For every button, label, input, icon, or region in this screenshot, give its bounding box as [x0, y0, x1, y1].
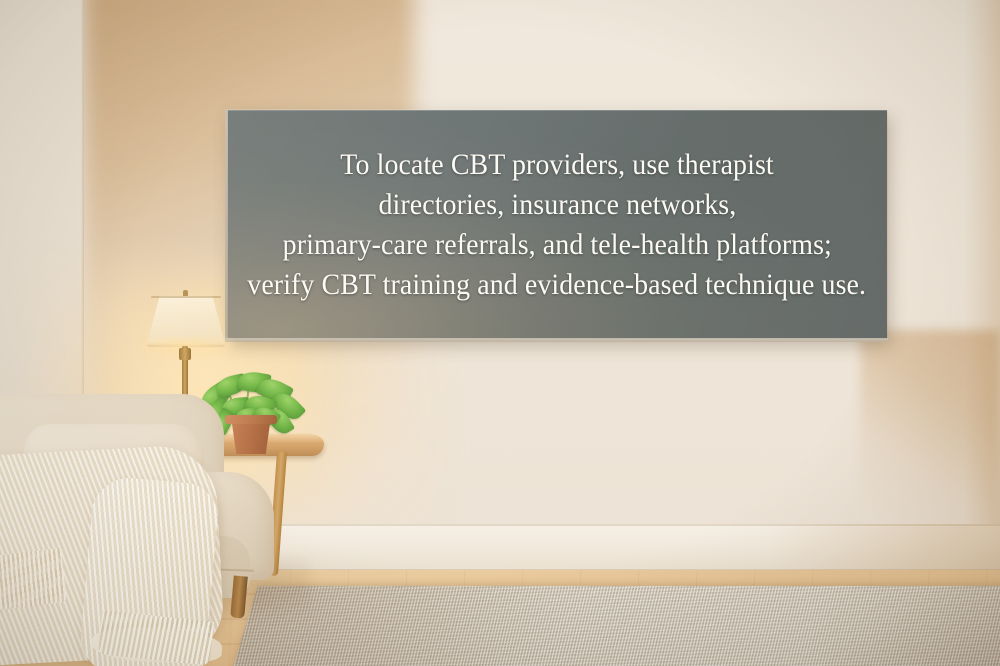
panel-text-line-3: primary-care referrals, and tele-health …: [282, 225, 831, 265]
panel-text-block: To locate CBT providers, use therapist d…: [227, 110, 887, 339]
panel-text-line-4: verify CBT training and evidence-based t…: [248, 265, 867, 305]
screenshot-root: To locate CBT providers, use therapist d…: [0, 0, 1000, 666]
wall-art-panel[interactable]: To locate CBT providers, use therapist d…: [227, 110, 887, 339]
area-rug: [221, 586, 1000, 666]
lamp-collar: [179, 348, 191, 360]
plant-pot-rim: [225, 415, 277, 424]
baseboard-warm-shade: [770, 524, 1000, 572]
rug-shading: [221, 586, 1000, 666]
panel-text-line-1: To locate CBT providers, use therapist: [340, 145, 773, 185]
throw-blanket-fringe-left: [0, 548, 67, 610]
wall-right-edge-shade: [964, 0, 1000, 572]
lamp-harp: [151, 296, 221, 298]
panel-text-line-2: directories, insurance networks,: [378, 185, 736, 225]
